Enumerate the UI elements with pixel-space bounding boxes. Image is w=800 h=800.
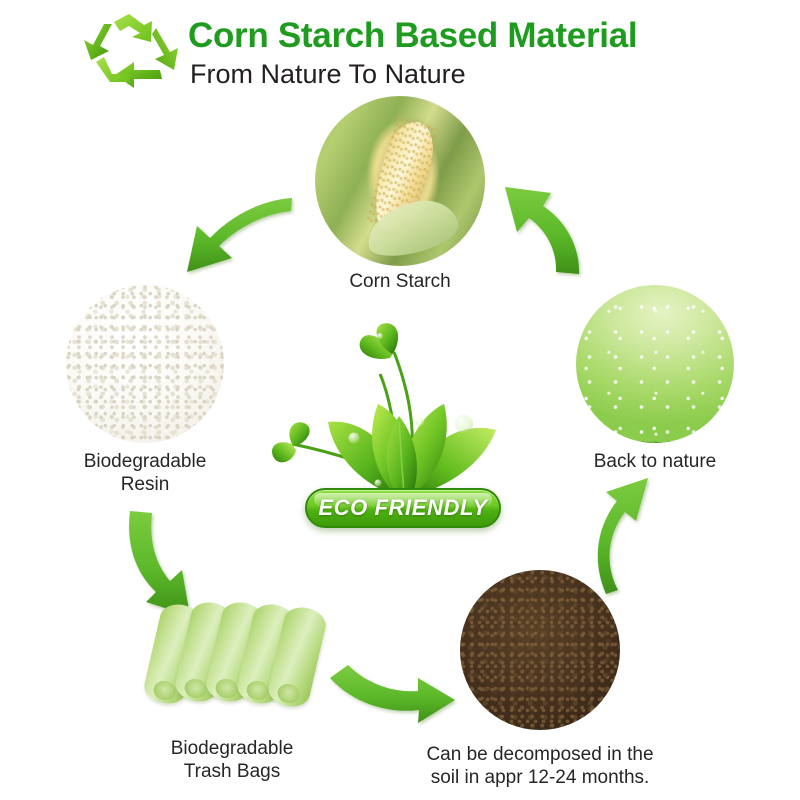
dew-drop: [416, 418, 425, 427]
stage-image-biodegradable-resin: [66, 285, 224, 443]
dew-drop: [349, 433, 360, 444]
arrow-grass-to-corn: [505, 187, 579, 274]
dew-drop: [377, 333, 383, 339]
dew-drop: [455, 415, 473, 433]
sprout-leaf-side-upper: [289, 422, 309, 446]
stage-image-biodegradable-trash-bags: [152, 600, 324, 708]
sprout-leaf-side-lower: [272, 442, 296, 462]
eco-friendly-badge: ECO FRIENDLY: [305, 488, 501, 528]
caption-decomposition: Can be decomposed in the soil in appr 12…: [420, 743, 660, 789]
stage-image-back-to-nature: [576, 285, 734, 443]
eco-friendly-badge-label: ECO FRIENDLY: [318, 495, 487, 521]
title-block: Corn Starch Based Material From Nature T…: [188, 16, 788, 90]
dew-drops-texture: [576, 285, 734, 443]
soil-texture: [460, 570, 620, 730]
page-title: Corn Starch Based Material: [188, 16, 788, 56]
arrow-bags-to-soil: [330, 665, 455, 723]
stage-image-corn-starch: [315, 96, 485, 266]
arrow-corn-to-resin: [187, 198, 292, 272]
header: Corn Starch Based Material From Nature T…: [0, 0, 800, 100]
caption-biodegradable-resin: Biodegradable Resin: [45, 450, 245, 496]
resin-granule-texture: [66, 285, 224, 443]
caption-biodegradable-trash-bags: Biodegradable Trash Bags: [132, 737, 332, 783]
caption-back-to-nature: Back to nature: [555, 450, 755, 473]
dew-drop: [375, 480, 382, 487]
page-subtitle: From Nature To Nature: [190, 58, 788, 90]
caption-corn-starch: Corn Starch: [300, 270, 500, 293]
recycle-icon: [82, 12, 186, 94]
stage-image-decomposition: [460, 570, 620, 730]
